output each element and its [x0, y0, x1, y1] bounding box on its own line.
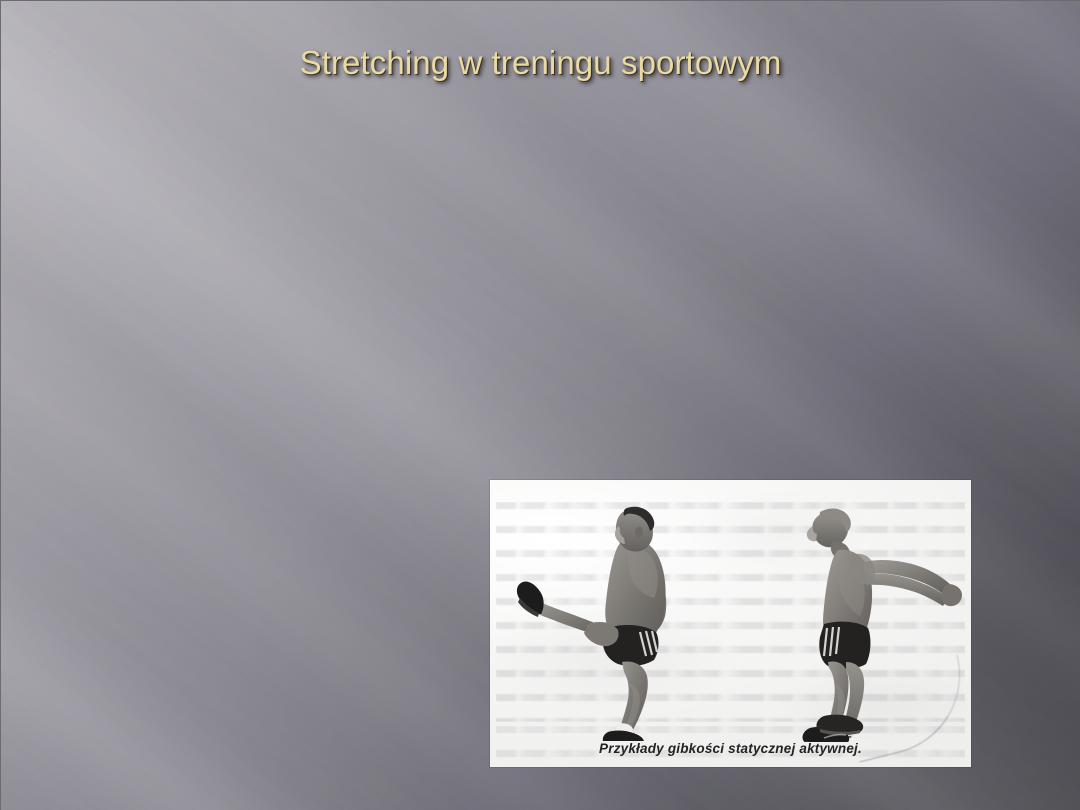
figure-man-leg-raise-forward — [496, 486, 726, 741]
presentation-slide: Stretching w treningu sportowym — [0, 0, 1080, 810]
photo-caption: Przykłady gibkości statycznej aktywnej. — [490, 741, 971, 756]
figure-man-arms-back-extension — [780, 492, 970, 742]
slide-title: Stretching w treningu sportowym — [1, 43, 1080, 83]
content-photo: Przykłady gibkości statycznej aktywnej. — [490, 480, 971, 767]
